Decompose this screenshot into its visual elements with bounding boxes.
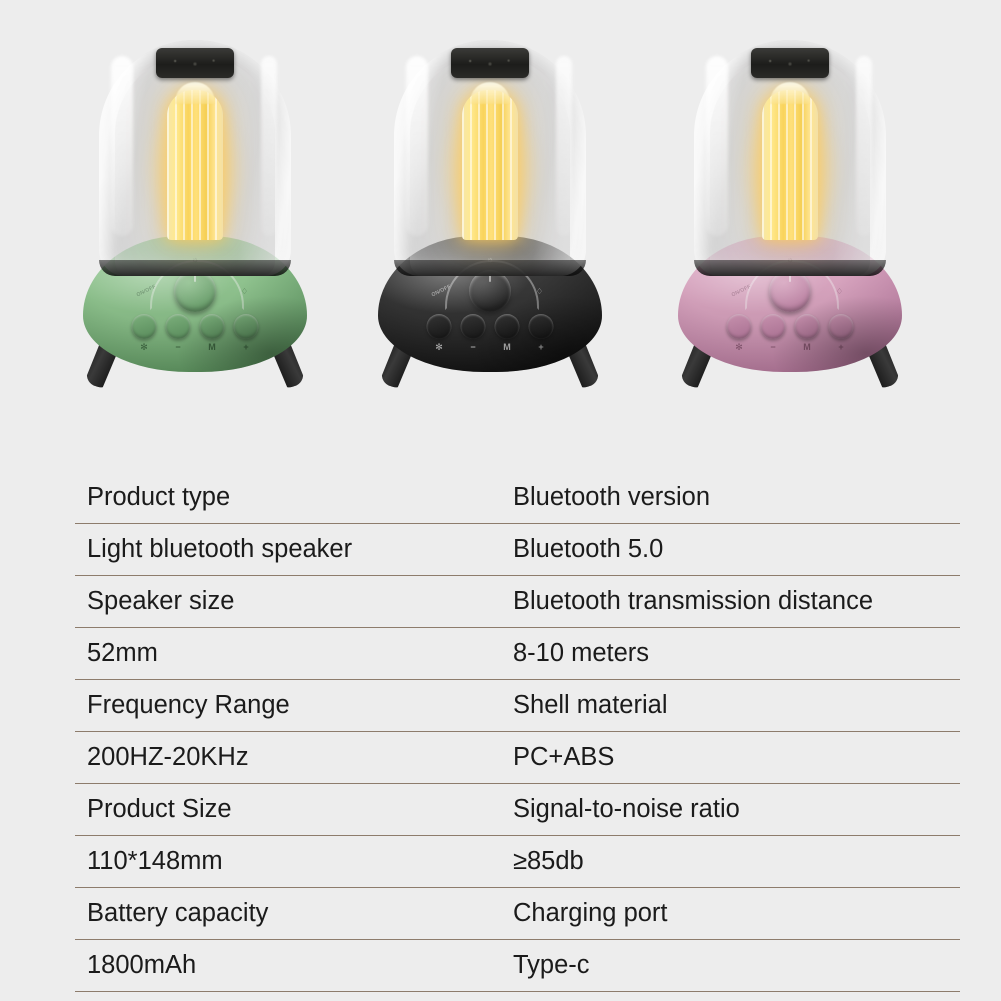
spec-cell-left: Light bluetooth speaker (75, 537, 507, 563)
spec-cell-right: Bluetooth version (507, 485, 960, 511)
spec-row: 200HZ-20KHz PC+ABS (75, 732, 960, 784)
spec-cell-left: 52mm (75, 641, 507, 667)
speaker-button-mode-icon[interactable] (200, 314, 225, 339)
filament-lamp (462, 82, 518, 242)
spec-row: 1800mAh Type-c (75, 940, 960, 992)
cap-texture (759, 53, 821, 73)
speaker-button-label-minus-icon: − (761, 342, 786, 352)
spec-cell-left: Speaker size (75, 589, 507, 615)
speaker-button-label-plus-icon: + (829, 342, 854, 352)
product-green: ☼ ♢ ON/OFF ✻−M+ (55, 40, 335, 400)
spec-row: Speaker size Bluetooth transmission dist… (75, 576, 960, 628)
speaker-button-mode-icon[interactable] (795, 314, 820, 339)
product-pink: ☼ ♢ ON/OFF ✻−M+ (650, 40, 930, 400)
specification-table: Product type Bluetooth versionLight blue… (75, 472, 960, 992)
power-volume-knob[interactable] (174, 270, 216, 312)
speaker-button-row (727, 314, 854, 339)
spec-cell-right: Shell material (507, 693, 960, 719)
spec-cell-left: Product Size (75, 797, 507, 823)
speaker-button-light-icon[interactable] (427, 314, 452, 339)
spec-cell-right: Type-c (507, 953, 960, 979)
speaker-button-label-mode-icon: M (795, 342, 820, 352)
spec-cell-right: Charging port (507, 901, 960, 927)
spec-row: Product type Bluetooth version (75, 472, 960, 524)
filament-lamp (167, 82, 223, 242)
product-black: ☼ ♢ ON/OFF ✻−M+ (350, 40, 630, 400)
speaker-button-label-minus-icon: − (461, 342, 486, 352)
speaker-button-label-plus-icon: + (529, 342, 554, 352)
speaker-button-label-minus-icon: − (166, 342, 191, 352)
cap-texture (459, 53, 521, 73)
spec-cell-right: Bluetooth transmission distance (507, 589, 960, 615)
spec-cell-right: 8-10 meters (507, 641, 960, 667)
speaker-button-light-icon[interactable] (132, 314, 157, 339)
onoff-label: ON/OFF (431, 284, 452, 298)
speaker-button-label-row: ✻−M+ (132, 342, 259, 352)
spec-cell-left: Frequency Range (75, 693, 507, 719)
spec-cell-left: 1800mAh (75, 953, 507, 979)
speaker-button-minus-icon[interactable] (166, 314, 191, 339)
speaker-button-label-row: ✻−M+ (427, 342, 554, 352)
speaker-button-plus-icon[interactable] (529, 314, 554, 339)
spec-row: Product Size Signal-to-noise ratio (75, 784, 960, 836)
product-showcase: ☼ ♢ ON/OFF ✻−M+ (0, 0, 1001, 440)
spec-cell-right: Signal-to-noise ratio (507, 797, 960, 823)
speaker-button-row (427, 314, 554, 339)
speaker-button-minus-icon[interactable] (461, 314, 486, 339)
lamp-mount-cap (451, 48, 529, 78)
lamp-mount-cap (156, 48, 234, 78)
power-volume-knob[interactable] (469, 270, 511, 312)
flame-icon: ♢ (536, 288, 543, 296)
spec-cell-left: 110*148mm (75, 849, 507, 875)
speaker-button-mode-icon[interactable] (495, 314, 520, 339)
spec-cell-right: ≥85db (507, 849, 960, 875)
spec-cell-left: 200HZ-20KHz (75, 745, 507, 771)
speaker-button-label-row: ✻−M+ (727, 342, 854, 352)
power-volume-knob[interactable] (769, 270, 811, 312)
speaker-button-label-light-icon: ✻ (427, 342, 452, 352)
speaker-button-plus-icon[interactable] (829, 314, 854, 339)
flame-icon: ♢ (241, 288, 248, 296)
speaker-button-minus-icon[interactable] (761, 314, 786, 339)
flame-icon: ♢ (836, 288, 843, 296)
onoff-label: ON/OFF (731, 284, 752, 298)
spec-row: Light bluetooth speaker Bluetooth 5.0 (75, 524, 960, 576)
spec-row: Frequency Range Shell material (75, 680, 960, 732)
cap-texture (164, 53, 226, 73)
speaker-button-label-light-icon: ✻ (132, 342, 157, 352)
spec-cell-left: Battery capacity (75, 901, 507, 927)
onoff-label: ON/OFF (136, 284, 157, 298)
lamp-filament (167, 90, 223, 240)
speaker-button-label-plus-icon: + (234, 342, 259, 352)
lamp-filament (762, 90, 818, 240)
speaker-button-row (132, 314, 259, 339)
lamp-mount-cap (751, 48, 829, 78)
spec-cell-right: PC+ABS (507, 745, 960, 771)
spec-cell-right: Bluetooth 5.0 (507, 537, 960, 563)
speaker-button-label-mode-icon: M (495, 342, 520, 352)
spec-row: 52mm 8-10 meters (75, 628, 960, 680)
speaker-button-label-mode-icon: M (200, 342, 225, 352)
lamp-filament (462, 90, 518, 240)
spec-row: 110*148mm ≥85db (75, 836, 960, 888)
spec-cell-left: Product type (75, 485, 507, 511)
filament-lamp (762, 82, 818, 242)
speaker-button-plus-icon[interactable] (234, 314, 259, 339)
speaker-button-label-light-icon: ✻ (727, 342, 752, 352)
speaker-button-light-icon[interactable] (727, 314, 752, 339)
spec-row: Battery capacity Charging port (75, 888, 960, 940)
